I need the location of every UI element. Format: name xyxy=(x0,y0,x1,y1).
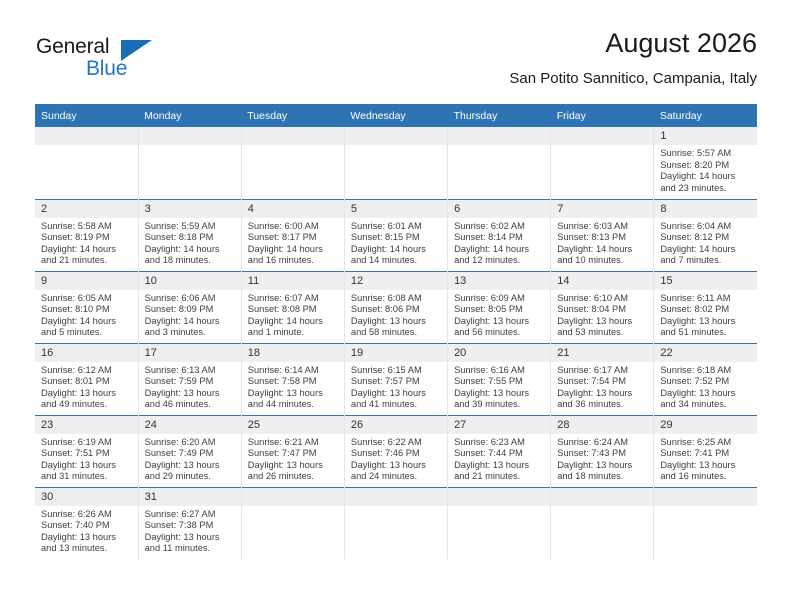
daylight-text-line2: and 12 minutes. xyxy=(454,255,545,267)
day-details: Sunrise: 6:19 AMSunset: 7:51 PMDaylight:… xyxy=(35,434,138,483)
weekday-header-wednesday: Wednesday xyxy=(344,104,447,127)
daylight-text-line1: Daylight: 13 hours xyxy=(41,460,133,472)
sunset-text: Sunset: 8:09 PM xyxy=(145,304,236,316)
daylight-text-line1: Daylight: 14 hours xyxy=(248,244,339,256)
day-number xyxy=(551,127,653,145)
sunset-text: Sunset: 7:55 PM xyxy=(454,376,545,388)
daylight-text-line2: and 34 minutes. xyxy=(660,399,752,411)
sunrise-text: Sunrise: 6:23 AM xyxy=(454,437,545,449)
sunset-text: Sunset: 7:57 PM xyxy=(351,376,442,388)
calendar-day-cell[interactable]: 25Sunrise: 6:21 AMSunset: 7:47 PMDayligh… xyxy=(241,415,344,487)
sunrise-text: Sunrise: 6:25 AM xyxy=(660,437,752,449)
sunset-text: Sunset: 7:44 PM xyxy=(454,448,545,460)
daylight-text-line2: and 11 minutes. xyxy=(145,543,236,555)
daylight-text-line1: Daylight: 14 hours xyxy=(145,244,236,256)
day-number: 13 xyxy=(448,272,550,290)
sunrise-text: Sunrise: 6:10 AM xyxy=(557,293,648,305)
daylight-text-line2: and 14 minutes. xyxy=(351,255,442,267)
calendar-header-row: Sunday Monday Tuesday Wednesday Thursday… xyxy=(35,104,757,127)
daylight-text-line1: Daylight: 13 hours xyxy=(351,388,442,400)
sunrise-text: Sunrise: 6:18 AM xyxy=(660,365,752,377)
day-number: 5 xyxy=(345,200,447,218)
daylight-text-line1: Daylight: 13 hours xyxy=(351,316,442,328)
day-number xyxy=(345,488,447,506)
daylight-text-line1: Daylight: 13 hours xyxy=(248,388,339,400)
calendar-day-cell[interactable]: 20Sunrise: 6:16 AMSunset: 7:55 PMDayligh… xyxy=(448,343,551,415)
calendar-day-cell[interactable]: 18Sunrise: 6:14 AMSunset: 7:58 PMDayligh… xyxy=(241,343,344,415)
daylight-text-line1: Daylight: 13 hours xyxy=(145,388,236,400)
weekday-header-sunday: Sunday xyxy=(35,104,138,127)
sunset-text: Sunset: 7:46 PM xyxy=(351,448,442,460)
daylight-text-line2: and 58 minutes. xyxy=(351,327,442,339)
sunrise-text: Sunrise: 6:22 AM xyxy=(351,437,442,449)
day-number: 2 xyxy=(35,200,138,218)
calendar-cell-empty xyxy=(551,127,654,199)
day-number: 11 xyxy=(242,272,344,290)
page-header: General Blue August 2026 San Potito Sann… xyxy=(0,0,792,100)
daylight-text-line2: and 21 minutes. xyxy=(454,471,545,483)
calendar-day-cell[interactable]: 6Sunrise: 6:02 AMSunset: 8:14 PMDaylight… xyxy=(448,199,551,271)
daylight-text-line2: and 18 minutes. xyxy=(557,471,648,483)
sunset-text: Sunset: 7:54 PM xyxy=(557,376,648,388)
sunrise-text: Sunrise: 6:26 AM xyxy=(41,509,133,521)
day-number xyxy=(345,127,447,145)
day-details: Sunrise: 6:16 AMSunset: 7:55 PMDaylight:… xyxy=(448,362,550,411)
day-number: 27 xyxy=(448,416,550,434)
calendar-cell-empty xyxy=(35,127,138,199)
calendar-week-row: 30Sunrise: 6:26 AMSunset: 7:40 PMDayligh… xyxy=(35,487,757,559)
page-subtitle: San Potito Sannitico, Campania, Italy xyxy=(509,70,757,88)
day-details: Sunrise: 6:08 AMSunset: 8:06 PMDaylight:… xyxy=(345,290,447,339)
calendar-day-cell[interactable]: 9Sunrise: 6:05 AMSunset: 8:10 PMDaylight… xyxy=(35,271,138,343)
sunrise-text: Sunrise: 5:58 AM xyxy=(41,221,133,233)
calendar-day-cell[interactable]: 14Sunrise: 6:10 AMSunset: 8:04 PMDayligh… xyxy=(551,271,654,343)
calendar-cell-empty xyxy=(551,487,654,559)
day-number: 21 xyxy=(551,344,653,362)
daylight-text-line2: and 1 minute. xyxy=(248,327,339,339)
day-number: 14 xyxy=(551,272,653,290)
daylight-text-line2: and 26 minutes. xyxy=(248,471,339,483)
daylight-text-line2: and 10 minutes. xyxy=(557,255,648,267)
page-title: August 2026 xyxy=(509,28,757,60)
daylight-text-line2: and 46 minutes. xyxy=(145,399,236,411)
calendar-cell-empty xyxy=(448,127,551,199)
day-number xyxy=(242,127,344,145)
day-details: Sunrise: 6:13 AMSunset: 7:59 PMDaylight:… xyxy=(139,362,241,411)
daylight-text-line2: and 49 minutes. xyxy=(41,399,133,411)
day-number: 20 xyxy=(448,344,550,362)
day-details: Sunrise: 5:58 AMSunset: 8:19 PMDaylight:… xyxy=(35,218,138,267)
sunrise-text: Sunrise: 5:57 AM xyxy=(660,148,752,160)
sunset-text: Sunset: 8:04 PM xyxy=(557,304,648,316)
calendar-week-row: 16Sunrise: 6:12 AMSunset: 8:01 PMDayligh… xyxy=(35,343,757,415)
daylight-text-line1: Daylight: 13 hours xyxy=(145,532,236,544)
day-details: Sunrise: 6:27 AMSunset: 7:38 PMDaylight:… xyxy=(139,506,241,555)
daylight-text-line2: and 36 minutes. xyxy=(557,399,648,411)
sunset-text: Sunset: 8:17 PM xyxy=(248,232,339,244)
day-details: Sunrise: 6:05 AMSunset: 8:10 PMDaylight:… xyxy=(35,290,138,339)
calendar-day-cell[interactable]: 24Sunrise: 6:20 AMSunset: 7:49 PMDayligh… xyxy=(138,415,241,487)
sunrise-text: Sunrise: 5:59 AM xyxy=(145,221,236,233)
sunrise-text: Sunrise: 6:09 AM xyxy=(454,293,545,305)
day-details: Sunrise: 6:20 AMSunset: 7:49 PMDaylight:… xyxy=(139,434,241,483)
calendar-week-row: 23Sunrise: 6:19 AMSunset: 7:51 PMDayligh… xyxy=(35,415,757,487)
calendar-day-cell[interactable]: 27Sunrise: 6:23 AMSunset: 7:44 PMDayligh… xyxy=(448,415,551,487)
sunrise-text: Sunrise: 6:15 AM xyxy=(351,365,442,377)
day-details: Sunrise: 6:06 AMSunset: 8:09 PMDaylight:… xyxy=(139,290,241,339)
calendar-day-cell[interactable]: 16Sunrise: 6:12 AMSunset: 8:01 PMDayligh… xyxy=(35,343,138,415)
sunset-text: Sunset: 8:13 PM xyxy=(557,232,648,244)
daylight-text-line1: Daylight: 13 hours xyxy=(660,316,752,328)
sunrise-text: Sunrise: 6:11 AM xyxy=(660,293,752,305)
day-number: 8 xyxy=(654,200,757,218)
day-number: 29 xyxy=(654,416,757,434)
sunrise-text: Sunrise: 6:21 AM xyxy=(248,437,339,449)
day-details: Sunrise: 6:11 AMSunset: 8:02 PMDaylight:… xyxy=(654,290,757,339)
sunset-text: Sunset: 8:20 PM xyxy=(660,160,752,172)
sunrise-text: Sunrise: 6:12 AM xyxy=(41,365,133,377)
day-details: Sunrise: 6:24 AMSunset: 7:43 PMDaylight:… xyxy=(551,434,653,483)
daylight-text-line1: Daylight: 13 hours xyxy=(557,460,648,472)
day-number: 30 xyxy=(35,488,138,506)
daylight-text-line1: Daylight: 13 hours xyxy=(454,460,545,472)
sunrise-text: Sunrise: 6:03 AM xyxy=(557,221,648,233)
day-number: 10 xyxy=(139,272,241,290)
calendar-day-cell[interactable]: 5Sunrise: 6:01 AMSunset: 8:15 PMDaylight… xyxy=(344,199,447,271)
daylight-text-line1: Daylight: 13 hours xyxy=(454,388,545,400)
sunrise-text: Sunrise: 6:27 AM xyxy=(145,509,236,521)
day-details: Sunrise: 5:59 AMSunset: 8:18 PMDaylight:… xyxy=(139,218,241,267)
sunset-text: Sunset: 7:38 PM xyxy=(145,520,236,532)
calendar-day-cell[interactable]: 17Sunrise: 6:13 AMSunset: 7:59 PMDayligh… xyxy=(138,343,241,415)
sunset-text: Sunset: 8:10 PM xyxy=(41,304,133,316)
day-details: Sunrise: 6:02 AMSunset: 8:14 PMDaylight:… xyxy=(448,218,550,267)
sunrise-text: Sunrise: 6:01 AM xyxy=(351,221,442,233)
sunrise-text: Sunrise: 6:08 AM xyxy=(351,293,442,305)
sunset-text: Sunset: 7:49 PM xyxy=(145,448,236,460)
sunrise-text: Sunrise: 6:04 AM xyxy=(660,221,752,233)
day-number: 19 xyxy=(345,344,447,362)
sunset-text: Sunset: 7:41 PM xyxy=(660,448,752,460)
calendar-day-cell[interactable]: 10Sunrise: 6:06 AMSunset: 8:09 PMDayligh… xyxy=(138,271,241,343)
day-number xyxy=(139,127,241,145)
weekday-header-saturday: Saturday xyxy=(654,104,757,127)
day-number: 16 xyxy=(35,344,138,362)
day-number: 26 xyxy=(345,416,447,434)
daylight-text-line2: and 3 minutes. xyxy=(145,327,236,339)
day-number: 12 xyxy=(345,272,447,290)
day-number: 28 xyxy=(551,416,653,434)
calendar-day-cell[interactable]: 1Sunrise: 5:57 AMSunset: 8:20 PMDaylight… xyxy=(654,127,757,199)
day-details: Sunrise: 6:12 AMSunset: 8:01 PMDaylight:… xyxy=(35,362,138,411)
calendar-day-cell[interactable]: 8Sunrise: 6:04 AMSunset: 8:12 PMDaylight… xyxy=(654,199,757,271)
calendar-day-cell[interactable]: 13Sunrise: 6:09 AMSunset: 8:05 PMDayligh… xyxy=(448,271,551,343)
title-block: August 2026 San Potito Sannitico, Campan… xyxy=(509,28,757,88)
daylight-text-line1: Daylight: 14 hours xyxy=(660,244,752,256)
day-details: Sunrise: 6:10 AMSunset: 8:04 PMDaylight:… xyxy=(551,290,653,339)
daylight-text-line1: Daylight: 13 hours xyxy=(557,316,648,328)
sunset-text: Sunset: 8:12 PM xyxy=(660,232,752,244)
day-details: Sunrise: 6:03 AMSunset: 8:13 PMDaylight:… xyxy=(551,218,653,267)
calendar-cell-empty xyxy=(138,127,241,199)
daylight-text-line1: Daylight: 13 hours xyxy=(248,460,339,472)
daylight-text-line2: and 29 minutes. xyxy=(145,471,236,483)
sunset-text: Sunset: 7:51 PM xyxy=(41,448,133,460)
calendar-cell-empty xyxy=(448,487,551,559)
sunset-text: Sunset: 8:08 PM xyxy=(248,304,339,316)
daylight-text-line1: Daylight: 14 hours xyxy=(41,316,133,328)
calendar-body: 1Sunrise: 5:57 AMSunset: 8:20 PMDaylight… xyxy=(35,127,757,559)
sunset-text: Sunset: 7:52 PM xyxy=(660,376,752,388)
sunrise-text: Sunrise: 6:19 AM xyxy=(41,437,133,449)
day-details: Sunrise: 6:21 AMSunset: 7:47 PMDaylight:… xyxy=(242,434,344,483)
calendar-day-cell[interactable]: 29Sunrise: 6:25 AMSunset: 7:41 PMDayligh… xyxy=(654,415,757,487)
calendar-cell-empty xyxy=(654,487,757,559)
calendar-cell-empty xyxy=(241,127,344,199)
day-number: 9 xyxy=(35,272,138,290)
day-details: Sunrise: 6:15 AMSunset: 7:57 PMDaylight:… xyxy=(345,362,447,411)
calendar-day-cell[interactable]: 26Sunrise: 6:22 AMSunset: 7:46 PMDayligh… xyxy=(344,415,447,487)
daylight-text-line2: and 21 minutes. xyxy=(41,255,133,267)
calendar-day-cell[interactable]: 28Sunrise: 6:24 AMSunset: 7:43 PMDayligh… xyxy=(551,415,654,487)
logo-text-blue: Blue xyxy=(86,58,127,79)
calendar-table: Sunday Monday Tuesday Wednesday Thursday… xyxy=(35,104,757,559)
calendar-day-cell[interactable]: 4Sunrise: 6:00 AMSunset: 8:17 PMDaylight… xyxy=(241,199,344,271)
daylight-text-line2: and 41 minutes. xyxy=(351,399,442,411)
sunset-text: Sunset: 8:18 PM xyxy=(145,232,236,244)
sunrise-text: Sunrise: 6:17 AM xyxy=(557,365,648,377)
day-number xyxy=(242,488,344,506)
calendar-cell-empty xyxy=(344,127,447,199)
calendar-page: General Blue August 2026 San Potito Sann… xyxy=(0,0,792,612)
calendar-day-cell[interactable]: 31Sunrise: 6:27 AMSunset: 7:38 PMDayligh… xyxy=(138,487,241,559)
sunset-text: Sunset: 7:58 PM xyxy=(248,376,339,388)
day-details: Sunrise: 6:00 AMSunset: 8:17 PMDaylight:… xyxy=(242,218,344,267)
calendar-day-cell[interactable]: 11Sunrise: 6:07 AMSunset: 8:08 PMDayligh… xyxy=(241,271,344,343)
day-number xyxy=(448,488,550,506)
daylight-text-line1: Daylight: 13 hours xyxy=(454,316,545,328)
day-details: Sunrise: 6:18 AMSunset: 7:52 PMDaylight:… xyxy=(654,362,757,411)
daylight-text-line1: Daylight: 13 hours xyxy=(660,388,752,400)
daylight-text-line2: and 24 minutes. xyxy=(351,471,442,483)
daylight-text-line2: and 39 minutes. xyxy=(454,399,545,411)
general-blue-logo[interactable]: General Blue xyxy=(36,36,166,88)
sunrise-text: Sunrise: 6:02 AM xyxy=(454,221,545,233)
calendar-day-cell[interactable]: 15Sunrise: 6:11 AMSunset: 8:02 PMDayligh… xyxy=(654,271,757,343)
calendar-day-cell[interactable]: 7Sunrise: 6:03 AMSunset: 8:13 PMDaylight… xyxy=(551,199,654,271)
logo-text-general: General xyxy=(36,36,109,57)
day-number: 18 xyxy=(242,344,344,362)
daylight-text-line2: and 23 minutes. xyxy=(660,183,752,195)
daylight-text-line2: and 18 minutes. xyxy=(145,255,236,267)
sunrise-text: Sunrise: 6:06 AM xyxy=(145,293,236,305)
sunset-text: Sunset: 8:01 PM xyxy=(41,376,133,388)
calendar-day-cell[interactable]: 21Sunrise: 6:17 AMSunset: 7:54 PMDayligh… xyxy=(551,343,654,415)
sunrise-text: Sunrise: 6:07 AM xyxy=(248,293,339,305)
day-number: 24 xyxy=(139,416,241,434)
day-details: Sunrise: 5:57 AMSunset: 8:20 PMDaylight:… xyxy=(654,145,757,194)
day-details: Sunrise: 6:04 AMSunset: 8:12 PMDaylight:… xyxy=(654,218,757,267)
calendar-day-cell[interactable]: 2Sunrise: 5:58 AMSunset: 8:19 PMDaylight… xyxy=(35,199,138,271)
sunrise-text: Sunrise: 6:16 AM xyxy=(454,365,545,377)
daylight-text-line2: and 16 minutes. xyxy=(660,471,752,483)
calendar-day-cell[interactable]: 23Sunrise: 6:19 AMSunset: 7:51 PMDayligh… xyxy=(35,415,138,487)
day-details: Sunrise: 6:09 AMSunset: 8:05 PMDaylight:… xyxy=(448,290,550,339)
daylight-text-line1: Daylight: 13 hours xyxy=(557,388,648,400)
day-details: Sunrise: 6:17 AMSunset: 7:54 PMDaylight:… xyxy=(551,362,653,411)
calendar-week-row: 1Sunrise: 5:57 AMSunset: 8:20 PMDaylight… xyxy=(35,127,757,199)
daylight-text-line1: Daylight: 13 hours xyxy=(41,532,133,544)
sunrise-text: Sunrise: 6:24 AM xyxy=(557,437,648,449)
day-details: Sunrise: 6:07 AMSunset: 8:08 PMDaylight:… xyxy=(242,290,344,339)
daylight-text-line1: Daylight: 13 hours xyxy=(660,460,752,472)
weekday-header-tuesday: Tuesday xyxy=(241,104,344,127)
day-number xyxy=(448,127,550,145)
sunrise-text: Sunrise: 6:14 AM xyxy=(248,365,339,377)
weekday-header-monday: Monday xyxy=(138,104,241,127)
daylight-text-line2: and 53 minutes. xyxy=(557,327,648,339)
daylight-text-line2: and 56 minutes. xyxy=(454,327,545,339)
day-number: 23 xyxy=(35,416,138,434)
daylight-text-line1: Daylight: 13 hours xyxy=(145,460,236,472)
day-number: 4 xyxy=(242,200,344,218)
day-details: Sunrise: 6:14 AMSunset: 7:58 PMDaylight:… xyxy=(242,362,344,411)
daylight-text-line2: and 5 minutes. xyxy=(41,327,133,339)
calendar-day-cell[interactable]: 3Sunrise: 5:59 AMSunset: 8:18 PMDaylight… xyxy=(138,199,241,271)
day-number: 6 xyxy=(448,200,550,218)
calendar-cell-empty xyxy=(241,487,344,559)
sunset-text: Sunset: 8:02 PM xyxy=(660,304,752,316)
day-number xyxy=(654,488,757,506)
day-details: Sunrise: 6:01 AMSunset: 8:15 PMDaylight:… xyxy=(345,218,447,267)
daylight-text-line2: and 13 minutes. xyxy=(41,543,133,555)
day-number: 15 xyxy=(654,272,757,290)
sunset-text: Sunset: 8:14 PM xyxy=(454,232,545,244)
sunset-text: Sunset: 7:43 PM xyxy=(557,448,648,460)
sunrise-text: Sunrise: 6:20 AM xyxy=(145,437,236,449)
daylight-text-line2: and 44 minutes. xyxy=(248,399,339,411)
sunset-text: Sunset: 8:05 PM xyxy=(454,304,545,316)
calendar-cell-empty xyxy=(344,487,447,559)
sunset-text: Sunset: 7:47 PM xyxy=(248,448,339,460)
sunset-text: Sunset: 7:59 PM xyxy=(145,376,236,388)
daylight-text-line1: Daylight: 14 hours xyxy=(454,244,545,256)
calendar-day-cell[interactable]: 22Sunrise: 6:18 AMSunset: 7:52 PMDayligh… xyxy=(654,343,757,415)
sunrise-text: Sunrise: 6:00 AM xyxy=(248,221,339,233)
daylight-text-line2: and 31 minutes. xyxy=(41,471,133,483)
daylight-text-line1: Daylight: 14 hours xyxy=(41,244,133,256)
daylight-text-line1: Daylight: 14 hours xyxy=(557,244,648,256)
daylight-text-line1: Daylight: 14 hours xyxy=(248,316,339,328)
sunrise-text: Sunrise: 6:05 AM xyxy=(41,293,133,305)
day-number xyxy=(35,127,138,145)
calendar-day-cell[interactable]: 19Sunrise: 6:15 AMSunset: 7:57 PMDayligh… xyxy=(344,343,447,415)
day-details: Sunrise: 6:26 AMSunset: 7:40 PMDaylight:… xyxy=(35,506,138,555)
sunset-text: Sunset: 8:19 PM xyxy=(41,232,133,244)
day-details: Sunrise: 6:22 AMSunset: 7:46 PMDaylight:… xyxy=(345,434,447,483)
daylight-text-line1: Daylight: 14 hours xyxy=(145,316,236,328)
daylight-text-line1: Daylight: 13 hours xyxy=(351,460,442,472)
day-details: Sunrise: 6:25 AMSunset: 7:41 PMDaylight:… xyxy=(654,434,757,483)
weekday-header-friday: Friday xyxy=(551,104,654,127)
day-number: 17 xyxy=(139,344,241,362)
calendar-week-row: 2Sunrise: 5:58 AMSunset: 8:19 PMDaylight… xyxy=(35,199,757,271)
weekday-header-thursday: Thursday xyxy=(448,104,551,127)
calendar-day-cell[interactable]: 12Sunrise: 6:08 AMSunset: 8:06 PMDayligh… xyxy=(344,271,447,343)
day-details: Sunrise: 6:23 AMSunset: 7:44 PMDaylight:… xyxy=(448,434,550,483)
sunset-text: Sunset: 8:06 PM xyxy=(351,304,442,316)
calendar-day-cell[interactable]: 30Sunrise: 6:26 AMSunset: 7:40 PMDayligh… xyxy=(35,487,138,559)
daylight-text-line2: and 7 minutes. xyxy=(660,255,752,267)
sunrise-text: Sunrise: 6:13 AM xyxy=(145,365,236,377)
day-number: 1 xyxy=(654,127,757,145)
calendar-week-row: 9Sunrise: 6:05 AMSunset: 8:10 PMDaylight… xyxy=(35,271,757,343)
sunset-text: Sunset: 7:40 PM xyxy=(41,520,133,532)
daylight-text-line1: Daylight: 13 hours xyxy=(41,388,133,400)
daylight-text-line1: Daylight: 14 hours xyxy=(351,244,442,256)
day-number: 31 xyxy=(139,488,241,506)
daylight-text-line2: and 16 minutes. xyxy=(248,255,339,267)
daylight-text-line1: Daylight: 14 hours xyxy=(660,171,752,183)
sunset-text: Sunset: 8:15 PM xyxy=(351,232,442,244)
day-number xyxy=(551,488,653,506)
day-number: 3 xyxy=(139,200,241,218)
day-number: 7 xyxy=(551,200,653,218)
daylight-text-line2: and 51 minutes. xyxy=(660,327,752,339)
day-number: 22 xyxy=(654,344,757,362)
day-number: 25 xyxy=(242,416,344,434)
